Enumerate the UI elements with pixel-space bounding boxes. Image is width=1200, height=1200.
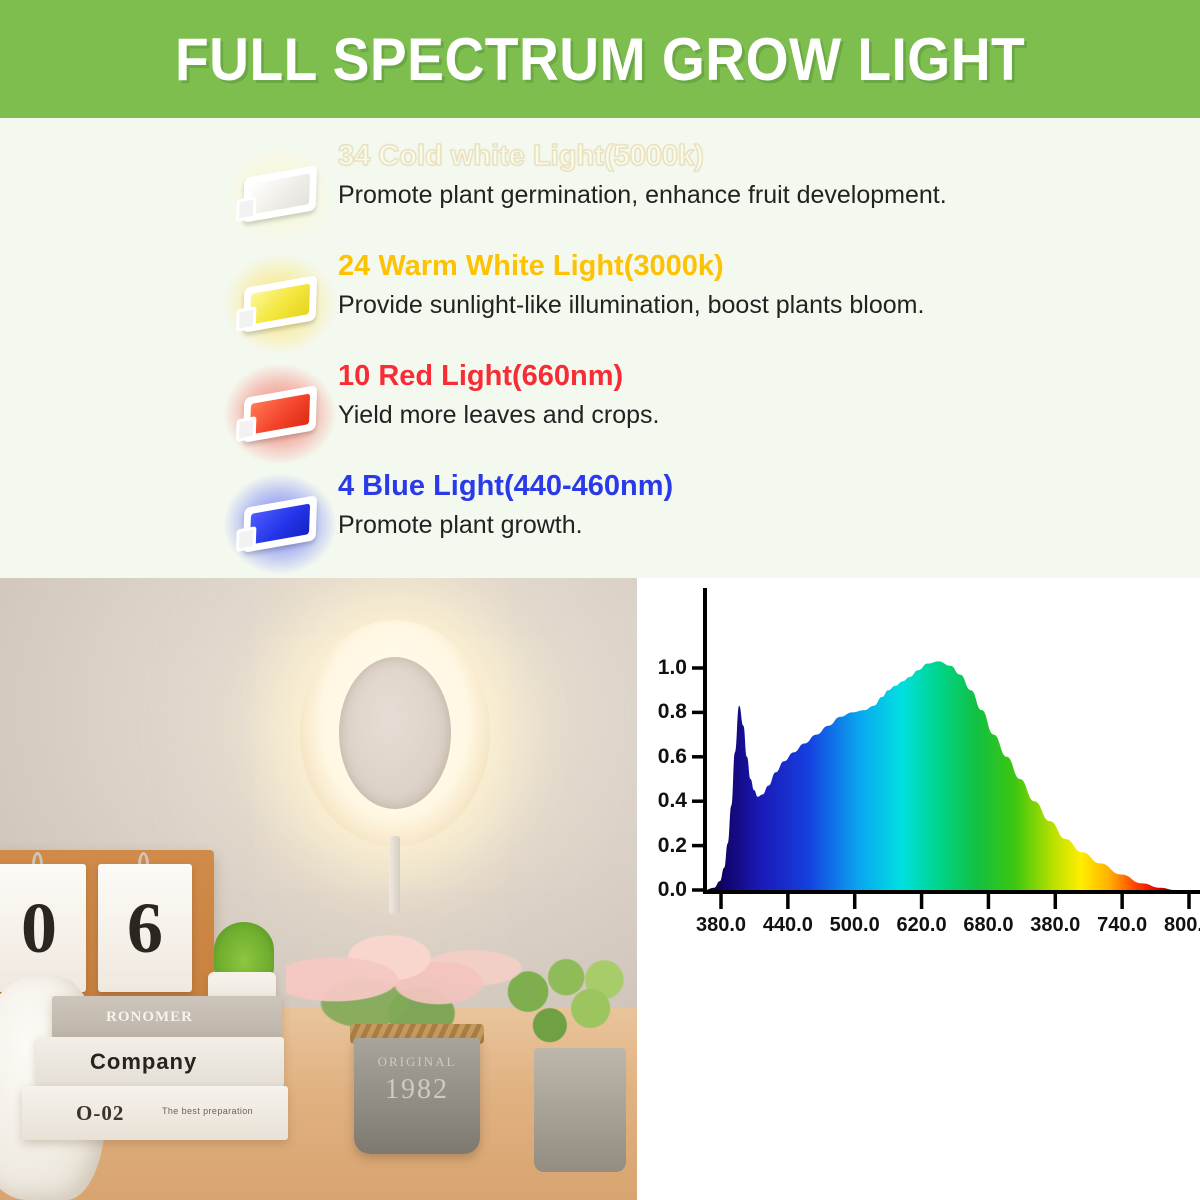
feature-row-red: 10 Red Light(660nm) Yield more leaves an… [0, 356, 1200, 468]
feature-description: Provide sunlight-like illumination, boos… [338, 286, 1180, 324]
feature-description: Promote plant germination, enhance fruit… [338, 176, 1180, 214]
product-lifestyle-photo: 0 6 RONOMER Company O-02 The best prepar… [0, 578, 637, 1200]
features-panel: 34 Cold white Light(5000k) Promote plant… [0, 118, 1200, 578]
product-infographic: FULL SPECTRUM GROW LIGHT 34 Cold white L… [0, 0, 1200, 1200]
book-stack-item: Company [36, 1037, 284, 1087]
feature-title: 24 Warm White Light(3000k) [338, 246, 1180, 286]
book-title: O-02 [76, 1101, 124, 1126]
book-stack-item: RONOMER [52, 996, 282, 1038]
feature-description: Yield more leaves and crops. [338, 396, 1180, 434]
led-chip-blue-icon [226, 472, 334, 576]
spectrum-area [705, 661, 1175, 890]
header-banner: FULL SPECTRUM GROW LIGHT [0, 0, 1200, 118]
feature-description: Promote plant growth. [338, 506, 1180, 544]
book-stack-item: O-02 The best preparation [22, 1086, 288, 1140]
feature-text-red: 10 Red Light(660nm) Yield more leaves an… [338, 356, 1180, 434]
led-chip-warm-white-icon [226, 252, 334, 356]
feature-text-cold-white: 34 Cold white Light(5000k) Promote plant… [338, 136, 1180, 214]
feature-text-blue: 4 Blue Light(440-460nm) Promote plant gr… [338, 466, 1180, 544]
eucalyptus-pot [534, 1048, 626, 1172]
pot-label-original: ORIGINAL [354, 1054, 480, 1070]
succulent-plant [214, 922, 274, 978]
feature-title: 10 Red Light(660nm) [338, 356, 1180, 396]
page-title: FULL SPECTRUM GROW LIGHT [175, 25, 1025, 94]
spectrum-chart-svg [637, 578, 1200, 1200]
calendar-digit: 6 [98, 864, 192, 992]
feature-row-cold-white: 34 Cold white Light(5000k) Promote plant… [0, 136, 1200, 248]
pink-flowers [286, 910, 532, 1036]
feature-row-warm-white: 24 Warm White Light(3000k) Provide sunli… [0, 246, 1200, 358]
ring-grow-light [300, 620, 490, 846]
spectrum-chart: 0.00.20.40.60.81.0380.0440.0500.0620.068… [637, 578, 1200, 1200]
metal-flower-pot: ORIGINAL 1982 [354, 1038, 480, 1154]
calendar-digit: 0 [0, 864, 86, 992]
led-chip-cold-white-icon [226, 142, 334, 246]
feature-title: 4 Blue Light(440-460nm) [338, 466, 1180, 506]
feature-row-blue: 4 Blue Light(440-460nm) Promote plant gr… [0, 466, 1200, 578]
feature-title: 34 Cold white Light(5000k) [338, 136, 1180, 176]
led-chip-red-icon [226, 362, 334, 466]
feature-text-warm-white: 24 Warm White Light(3000k) Provide sunli… [338, 246, 1180, 324]
ring-light-stem [389, 836, 400, 914]
book-subtitle: The best preparation [162, 1106, 253, 1116]
pot-label-year: 1982 [354, 1074, 480, 1106]
